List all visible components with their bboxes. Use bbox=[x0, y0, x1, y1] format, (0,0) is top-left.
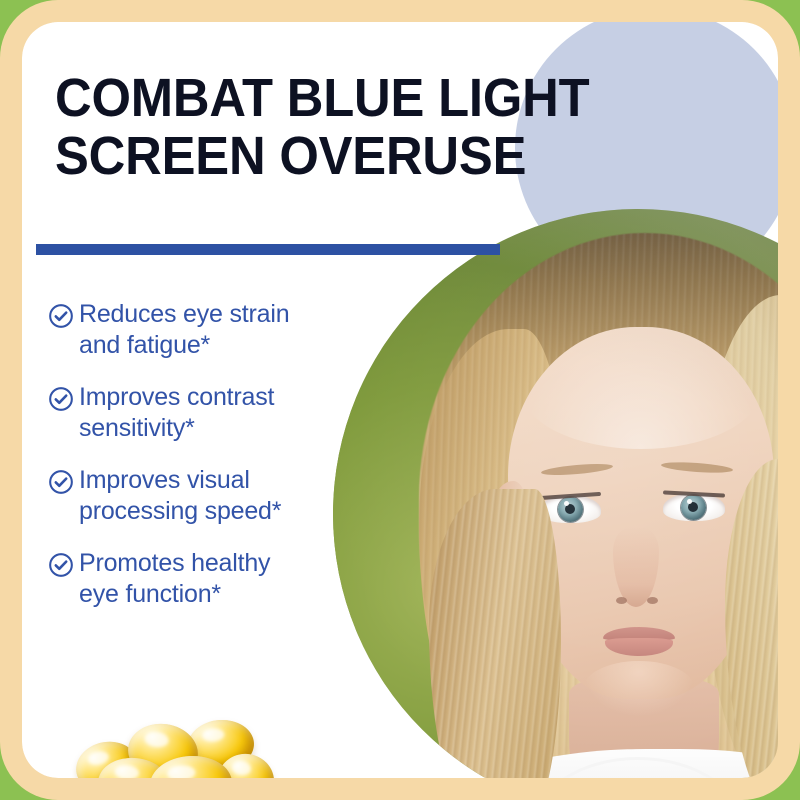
eye-glint-left bbox=[564, 501, 569, 506]
softgel-cluster bbox=[72, 698, 272, 778]
chin bbox=[583, 661, 695, 717]
list-item: Improves visual processing speed* bbox=[48, 465, 378, 527]
list-item: Improves contrast sensitivity* bbox=[48, 382, 378, 444]
portrait-photo bbox=[333, 209, 778, 778]
benefit-label: Improves visual processing speed* bbox=[79, 465, 281, 527]
list-item: Promotes healthy eye function* bbox=[48, 548, 378, 610]
benefits-list: Reduces eye strain and fatigue* Improves… bbox=[48, 299, 378, 631]
hair-front-left-texture bbox=[429, 489, 561, 778]
poster-root: COMBAT BLUE LIGHT SCREEN OVERUSE Reduces… bbox=[0, 0, 800, 800]
check-circle-icon bbox=[48, 552, 74, 578]
portrait-photo-backdrop bbox=[333, 209, 778, 778]
page-title: COMBAT BLUE LIGHT SCREEN OVERUSE bbox=[55, 69, 638, 185]
white-card: COMBAT BLUE LIGHT SCREEN OVERUSE Reduces… bbox=[22, 22, 778, 778]
check-circle-icon bbox=[48, 469, 74, 495]
list-item: Reduces eye strain and fatigue* bbox=[48, 299, 378, 361]
eye-glint-right bbox=[687, 499, 692, 504]
benefit-label: Improves contrast sensitivity* bbox=[79, 382, 274, 444]
benefit-label: Reduces eye strain and fatigue* bbox=[79, 299, 289, 361]
benefit-label: Promotes healthy eye function* bbox=[79, 548, 270, 610]
check-circle-icon bbox=[48, 386, 74, 412]
nostril-left bbox=[616, 597, 627, 604]
forehead-highlight bbox=[521, 329, 761, 449]
check-circle-icon bbox=[48, 303, 74, 329]
nostril-right bbox=[647, 597, 658, 604]
blue-divider-rule bbox=[36, 244, 500, 255]
